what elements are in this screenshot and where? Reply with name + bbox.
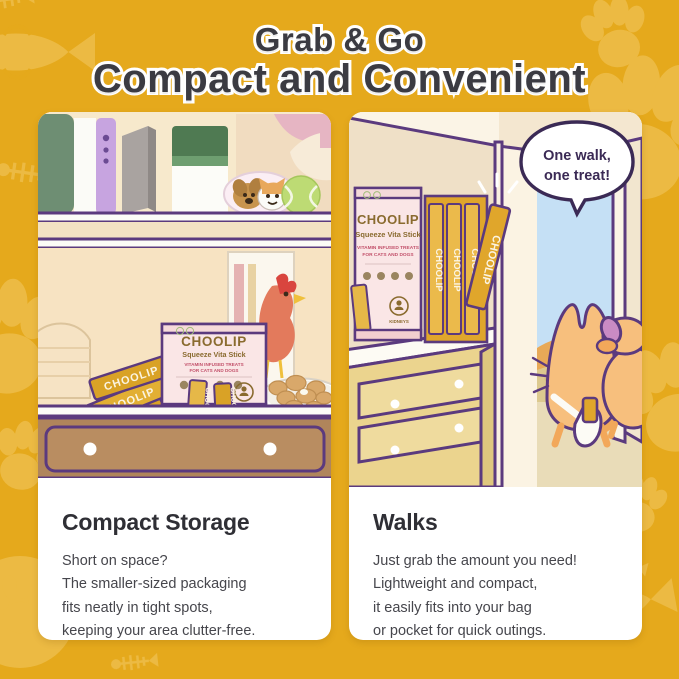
illustration-doorway-walk: CHOOLIP Squeeze Vita Stick VITAMIN INFUS… [349,112,642,487]
svg-text:VITAMIN INFUSED TREATS: VITAMIN INFUSED TREATS [184,362,243,367]
card-text-left: Compact Storage Short on space? The smal… [38,487,331,640]
card-text-right: Walks Just grab the amount you need! Lig… [349,487,642,640]
svg-text:Squeeze Vita Stick: Squeeze Vita Stick [355,230,421,239]
svg-text:Squeeze Vita Stick: Squeeze Vita Stick [182,350,245,359]
poster-root: Grab & Go Compact and Convenient [0,0,679,679]
card-body-walks: Just grab the amount you need! Lightweig… [373,550,618,640]
svg-text:KIDNEYS: KIDNEYS [389,319,409,324]
svg-text:CHOOLIP: CHOOLIP [433,248,444,292]
page-title: Grab & Go Compact and Convenient [0,22,679,101]
svg-text:VITAMIN INFUSED TREATS: VITAMIN INFUSED TREATS [357,245,420,251]
svg-text:FOR CATS AND DOGS: FOR CATS AND DOGS [190,368,239,373]
svg-text:CHOOLIP: CHOOLIP [357,212,419,227]
svg-text:One walk,: One walk, [543,148,611,164]
title-line-2: Compact and Convenient [0,58,679,101]
svg-text:FOR CATS AND DOGS: FOR CATS AND DOGS [362,252,414,258]
svg-text:CHOOLIP: CHOOLIP [451,248,462,292]
card-compact-storage[interactable]: CHOOLIP CHOOLIP CHOOLIP [38,112,331,640]
svg-text:one treat!: one treat! [544,168,610,184]
card-title-compact-storage: Compact Storage [62,509,307,536]
illustration-kitchen-shelf: CHOOLIP CHOOLIP CHOOLIP [38,112,331,487]
svg-text:CHOOLIP: CHOOLIP [181,334,247,349]
card-walks[interactable]: CHOOLIP Squeeze Vita Stick VITAMIN INFUS… [349,112,642,640]
title-line-1: Grab & Go [0,22,679,58]
cards-row: CHOOLIP CHOOLIP CHOOLIP [0,112,679,642]
card-body-compact-storage: Short on space? The smaller-sized packag… [62,550,307,640]
card-title-walks: Walks [373,509,618,536]
